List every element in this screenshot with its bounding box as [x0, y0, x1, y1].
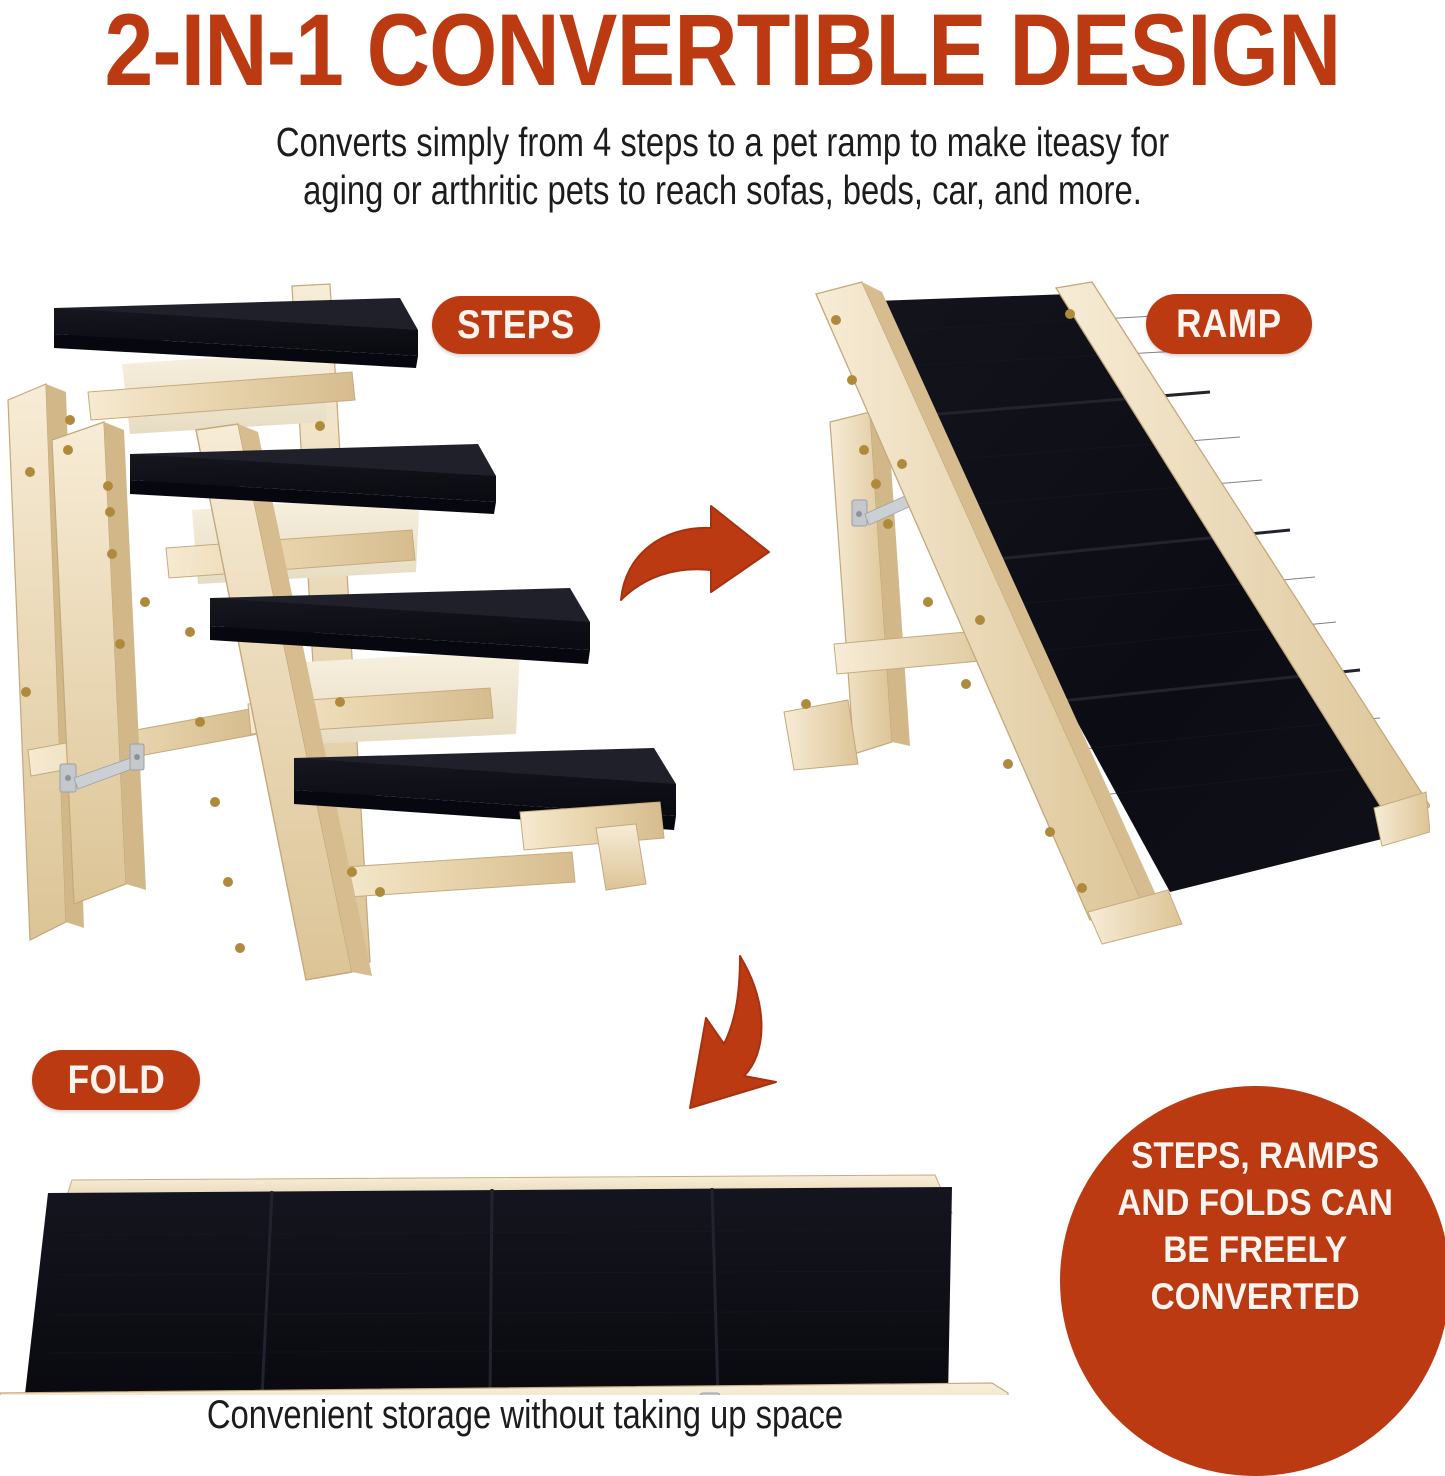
step-tread-2	[130, 444, 496, 514]
page-title: 2-IN-1 CONVERTIBLE DESIGN	[101, 0, 1344, 104]
circle-line-4: CONVERTED	[1117, 1273, 1393, 1320]
badge-ramp: RAMP	[1146, 294, 1312, 354]
product-photo-fold	[0, 1135, 1010, 1395]
badge-fold: FOLD	[32, 1050, 200, 1110]
badge-convertible-circle: STEPS, RAMPS AND FOLDS CAN BE FREELY CON…	[1060, 1086, 1445, 1476]
circle-line-1: STEPS, RAMPS	[1117, 1132, 1393, 1179]
curved-arrow-down-icon	[648, 950, 783, 1115]
badge-ramp-label: RAMP	[1176, 302, 1281, 347]
step-tread-1	[54, 298, 418, 368]
footer-caption: Convenient storage without taking up spa…	[111, 1392, 939, 1438]
infographic-root: 2-IN-1 CONVERTIBLE DESIGN Converts simpl…	[0, 0, 1445, 1448]
product-photo-steps	[0, 272, 700, 982]
badge-fold-label: FOLD	[67, 1058, 165, 1103]
fold-deck	[24, 1187, 952, 1395]
circle-line-3: BE FREELY	[1117, 1226, 1393, 1273]
page-subtitle: Converts simply from 4 steps to a pet ra…	[241, 118, 1205, 214]
badge-steps: STEPS	[432, 296, 600, 354]
product-photo-ramp	[770, 272, 1430, 972]
circle-line-2: AND FOLDS CAN	[1117, 1179, 1393, 1226]
curved-arrow-right-icon	[615, 492, 775, 607]
badge-steps-label: STEPS	[457, 303, 575, 348]
